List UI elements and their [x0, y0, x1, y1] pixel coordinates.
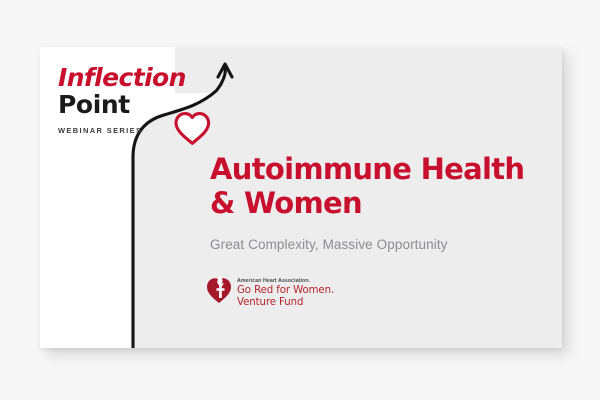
page-subtitle: Great Complexity, Massive Opportunity [210, 236, 540, 254]
sponsor-line-go-red: Go Red for Women. [237, 285, 334, 297]
aha-heart-torch-icon [206, 276, 232, 304]
sponsor-logo-text: American Heart Association. Go Red for W… [237, 275, 334, 308]
page-title-line-2: & Women [210, 186, 362, 220]
logo-word-inflection: Inflection [58, 64, 186, 91]
sponsor-line-venture-fund: Venture Fund [237, 297, 334, 309]
inflection-point-logo: Inflection Point WEBINAR SERIES [58, 64, 186, 136]
page-title: Autoimmune Health & Women [210, 152, 540, 220]
sponsor-line-association: American Heart Association. [237, 278, 334, 285]
page-title-line-1: Autoimmune Health [210, 152, 524, 186]
sponsor-logo: American Heart Association. Go Red for W… [206, 275, 334, 308]
screenshot-canvas: Inflection Point WEBINAR SERIES Autoimmu… [0, 0, 600, 400]
webinar-title-card: Inflection Point WEBINAR SERIES Autoimmu… [40, 47, 562, 348]
logo-series-label: WEBINAR SERIES [58, 126, 186, 136]
slide-content: Autoimmune Health & Women Great Complexi… [210, 152, 540, 254]
logo-word-point: Point [58, 91, 186, 118]
